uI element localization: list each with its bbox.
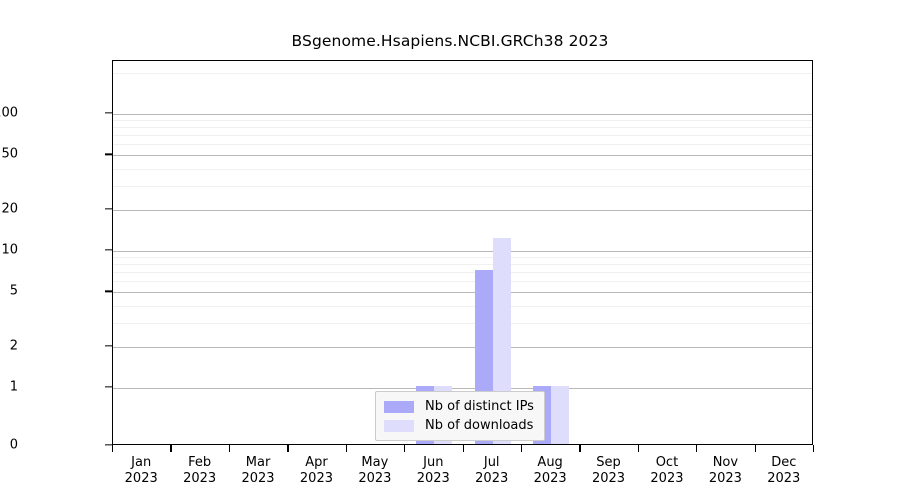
y-axis-tick-mark: [105, 386, 112, 387]
x-axis-tick-label: Apr2023: [300, 455, 333, 487]
y-axis: 0125102050100: [0, 0, 112, 500]
x-axis-tick-label: Feb2023: [183, 455, 216, 487]
x-axis-tick-mark: [463, 445, 464, 452]
x-axis-tick-month: Dec: [771, 455, 796, 470]
y-axis-tick-label: 10: [1, 243, 18, 258]
x-axis-tick-year: 2023: [241, 471, 274, 487]
x-axis-tick-month: Apr: [305, 455, 328, 470]
x-axis: Jan2023Feb2023Mar2023Apr2023May2023Jun20…: [112, 445, 813, 500]
x-axis-tick-month: May: [361, 455, 388, 470]
y-axis-tick-mark: [105, 345, 112, 346]
x-axis-tick-year: 2023: [417, 471, 450, 487]
x-axis-tick-label: May2023: [358, 455, 391, 487]
x-axis-tick-month: Aug: [537, 455, 562, 470]
x-axis-tick-month: Oct: [656, 455, 678, 470]
y-axis-tick-label: 100: [0, 106, 18, 121]
x-axis-tick-mark: [579, 445, 580, 452]
bar: [551, 386, 569, 444]
y-axis-tick-label: 5: [10, 284, 18, 299]
x-axis-tick-label: Nov2023: [709, 455, 742, 487]
x-axis-tick-month: Feb: [188, 455, 211, 470]
x-axis-tick-month: Mar: [246, 455, 271, 470]
legend-label-distinct-ips: Nb of distinct IPs: [425, 399, 534, 414]
x-axis-tick-mark: [229, 445, 230, 452]
x-axis-tick-mark: [755, 445, 756, 452]
legend-label-downloads: Nb of downloads: [425, 418, 533, 433]
x-axis-tick-month: Jan: [131, 455, 151, 470]
x-axis-tick-mark: [404, 445, 405, 452]
chart-figure: BSgenome.Hsapiens.NCBI.GRCh38 2023 01251…: [0, 0, 900, 500]
plot-area: [112, 60, 813, 445]
x-axis-tick-year: 2023: [475, 471, 508, 487]
legend-swatch-distinct-ips: [384, 401, 414, 413]
legend-item-distinct-ips: Nb of distinct IPs: [384, 397, 534, 416]
x-axis-tick-month: Sep: [596, 455, 621, 470]
x-axis-tick-mark: [287, 445, 288, 452]
y-axis-tick-label: 50: [1, 147, 18, 162]
chart-title: BSgenome.Hsapiens.NCBI.GRCh38 2023: [0, 32, 900, 50]
y-axis-tick-mark: [105, 444, 112, 445]
y-axis-tick-mark: [105, 154, 112, 155]
x-axis-tick-mark: [346, 445, 347, 452]
x-axis-tick-mark: [696, 445, 697, 452]
x-axis-tick-year: 2023: [534, 471, 567, 487]
x-axis-tick-label: Oct2023: [650, 455, 683, 487]
x-axis-tick-year: 2023: [592, 471, 625, 487]
x-axis-tick-label: Jul2023: [475, 455, 508, 487]
x-axis-tick-year: 2023: [358, 471, 391, 487]
x-axis-tick-year: 2023: [650, 471, 683, 487]
x-axis-tick-year: 2023: [183, 471, 216, 487]
y-axis-tick-mark: [105, 208, 112, 209]
chart-legend: Nb of distinct IPs Nb of downloads: [375, 391, 545, 441]
x-axis-tick-label: Sep2023: [592, 455, 625, 487]
x-axis-tick-year: 2023: [709, 471, 742, 487]
x-axis-tick-label: Dec2023: [767, 455, 800, 487]
y-axis-tick-mark: [105, 249, 112, 250]
y-axis-tick-label: 2: [10, 338, 18, 353]
y-axis-tick-label: 20: [1, 201, 18, 216]
y-axis-tick-mark: [105, 112, 112, 113]
x-axis-tick-label: Jun2023: [417, 455, 450, 487]
legend-item-downloads: Nb of downloads: [384, 416, 534, 435]
x-axis-tick-mark: [170, 445, 171, 452]
y-axis-tick-label: 0: [10, 438, 18, 453]
x-axis-tick-month: Jun: [423, 455, 443, 470]
x-axis-tick-label: Aug2023: [534, 455, 567, 487]
x-axis-tick-month: Nov: [713, 455, 738, 470]
y-axis-tick-mark: [105, 291, 112, 292]
x-axis-tick-year: 2023: [125, 471, 158, 487]
legend-swatch-downloads: [384, 420, 414, 432]
x-axis-tick-mark: [112, 445, 113, 452]
x-axis-tick-year: 2023: [767, 471, 800, 487]
y-axis-tick-label: 1: [10, 380, 18, 395]
x-axis-tick-label: Jan2023: [125, 455, 158, 487]
x-axis-tick-month: Jul: [484, 455, 500, 470]
bars-layer: [113, 61, 812, 444]
x-axis-tick-label: Mar2023: [241, 455, 274, 487]
x-axis-tick-year: 2023: [300, 471, 333, 487]
x-axis-tick-mark: [813, 445, 814, 452]
x-axis-tick-mark: [638, 445, 639, 452]
x-axis-tick-mark: [521, 445, 522, 452]
